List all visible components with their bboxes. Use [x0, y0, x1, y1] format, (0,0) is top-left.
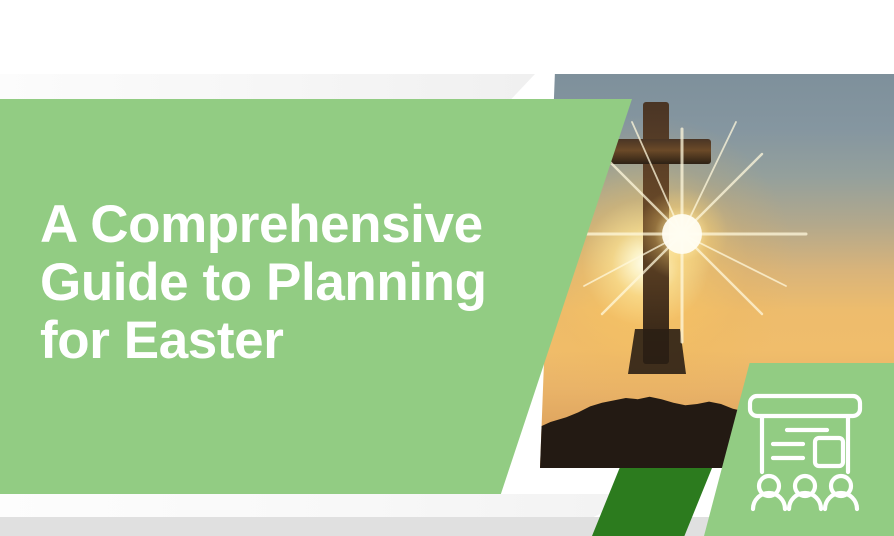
- easter-planning-banner: A Comprehensive Guide to Planning for Ea…: [0, 0, 894, 536]
- top-angled-gray-band: [0, 74, 535, 100]
- page-title: A Comprehensive Guide to Planning for Ea…: [40, 196, 570, 370]
- presentation-board-audience-icon: [745, 392, 865, 514]
- board-header-bar: [750, 396, 860, 416]
- board-square: [815, 438, 843, 466]
